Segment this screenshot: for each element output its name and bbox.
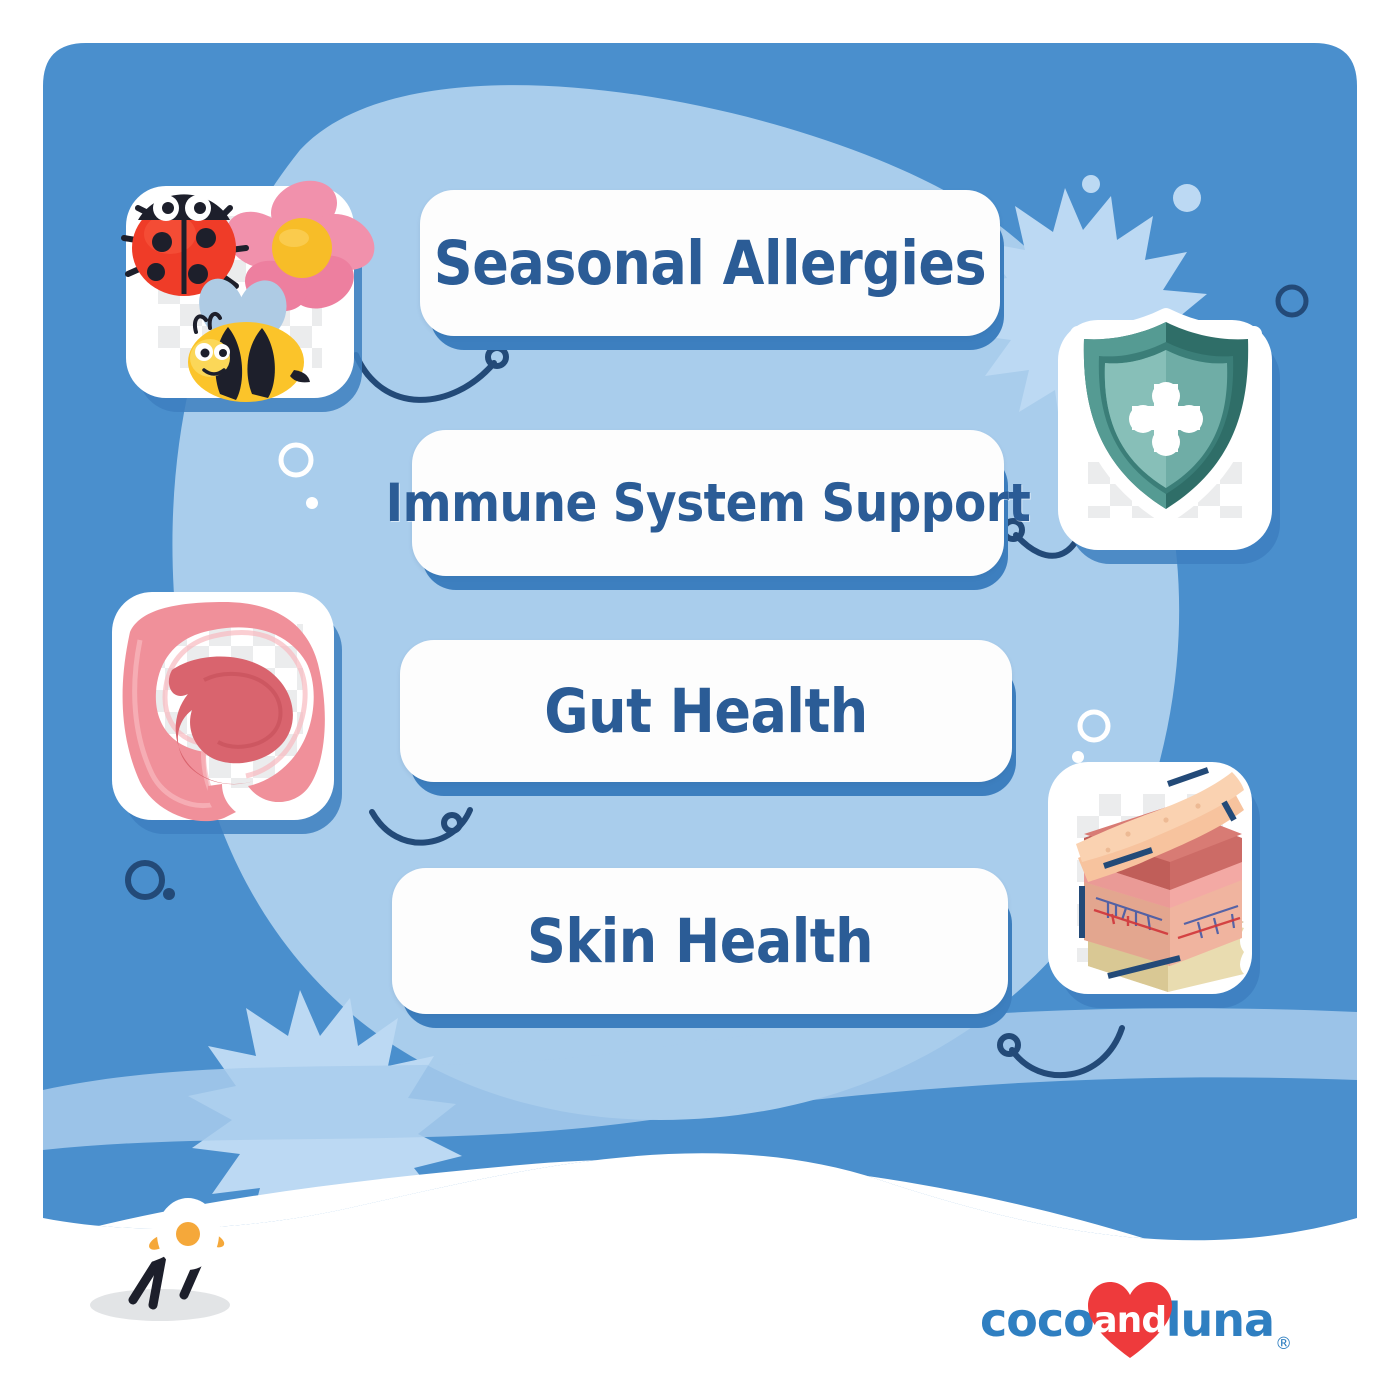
infographic-canvas: Seasonal Allergies Immune System Support… [0,0,1400,1400]
seasonal-allergies-tile[interactable] [126,186,354,398]
skin-health-tile[interactable] [1048,762,1252,994]
logo-word-luna: luna [1166,1293,1274,1347]
card-label: Skin Health [527,906,873,977]
bubble-dot [306,497,318,509]
gut-health-tile[interactable] [112,592,334,820]
immune-support-tile[interactable] [1058,320,1272,550]
daisy-shadow [90,1289,230,1321]
skin-layers-icon [1076,770,1244,992]
logo-word-and: and [1093,1300,1166,1341]
allergy-art [126,186,354,398]
intestines-art [112,592,334,820]
logo-word-coco: coco [980,1293,1094,1347]
card-skin-health[interactable]: Skin Health [392,868,1008,1014]
daisy-center [157,1198,219,1270]
ladybug-icon [124,194,246,296]
card-label: Immune System Support [386,472,1031,534]
bubble-dot [1082,175,1100,193]
card-label: Gut Health [544,676,867,747]
bubble-dot [1173,184,1201,212]
registered-mark: ® [1275,1334,1292,1354]
intestines-icon [123,602,325,821]
card-gut-health[interactable]: Gut Health [400,640,1012,782]
skin-layers-art [1048,762,1252,994]
shield-icon [1078,316,1254,516]
card-immune-system-support[interactable]: Immune System Support [412,430,1004,576]
card-seasonal-allergies[interactable]: Seasonal Allergies [420,190,1000,336]
brand-logo[interactable]: coco and luna ® [980,1278,1292,1362]
shield-art [1058,320,1272,550]
card-label: Seasonal Allergies [434,228,986,299]
bubble-dot [163,888,175,900]
logo-heart: and [1084,1278,1176,1362]
